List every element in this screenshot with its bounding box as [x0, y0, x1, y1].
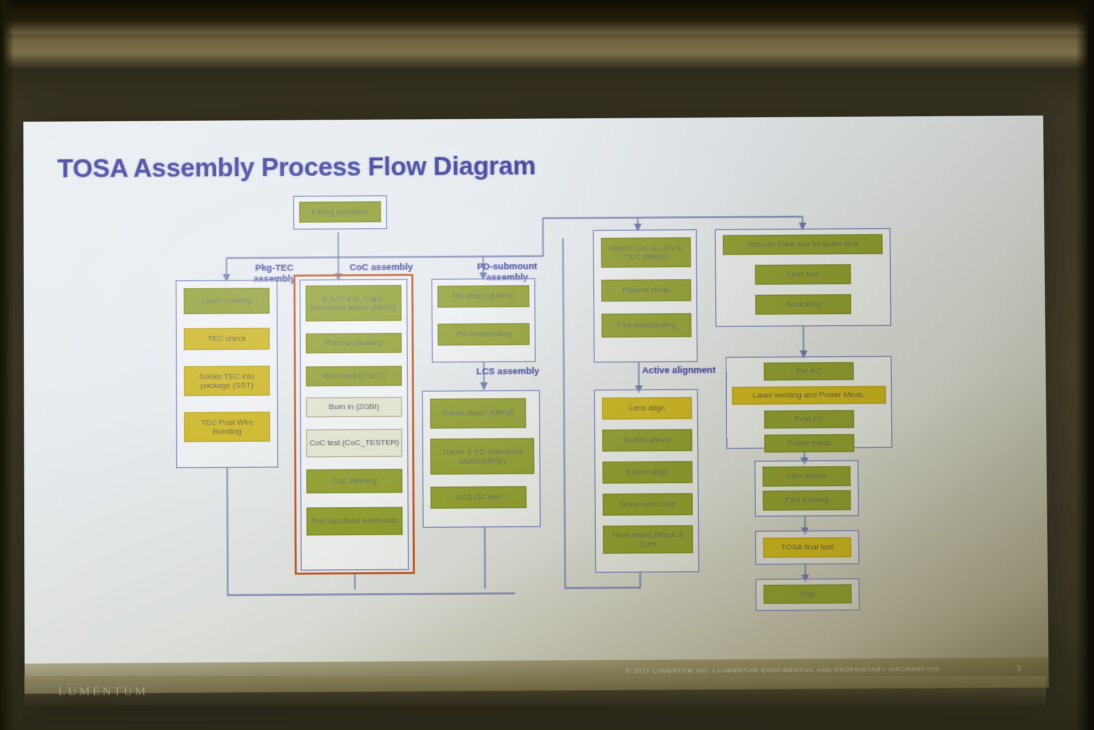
node-plasma-cleaning[interactable]: Plasma cleaning	[306, 333, 402, 354]
node-solder-tec[interactable]: Solder TEC into package (SST)	[184, 366, 270, 397]
node-deep-oven-cure[interactable]: Deep oven cure	[603, 493, 693, 516]
group-label-coc: CoC assembly	[347, 262, 415, 273]
node-iso-bs-attach[interactable]: Iso/BS attach	[602, 429, 692, 452]
node-tec-check[interactable]: TEC check	[184, 328, 270, 351]
node-lcs-dc-test[interactable]: LCS DC test	[430, 486, 526, 509]
node-ship[interactable]: Ship	[763, 584, 851, 604]
node-flex-forming[interactable]: Flex forming	[763, 490, 851, 511]
node-burn-in[interactable]: Burn in (2GBI)	[306, 397, 402, 418]
node-pd-attach[interactable]: PD attach (MRSI)	[437, 285, 529, 308]
node-vacuum-bake-lid-seal[interactable]: Vacuum bake and lid seam seal	[723, 234, 883, 255]
node-heat-shield-attach[interactable]: Heat shield Attach & Cure	[603, 525, 693, 554]
node-laser-marking[interactable]: Laser marking	[184, 288, 270, 314]
lumentum-logo: LUMENTUM	[58, 684, 148, 699]
node-flex-attach[interactable]: Flex attach	[762, 466, 850, 487]
node-pre-fc[interactable]: Pre-FC	[764, 362, 854, 381]
wall-edge-right	[1076, 0, 1094, 730]
wall-edge-left	[0, 0, 14, 730]
node-coc-test[interactable]: CoC test (CoC_TESTER)	[306, 429, 402, 458]
ceiling-strip	[0, 0, 1094, 34]
node-mz-chip-attach[interactable]: (L)MZ chip, Caps, thermistor attach (MRS…	[305, 285, 401, 322]
node-tec-post-wire-bonding[interactable]: TEC Post Wire Bonding	[184, 412, 270, 443]
node-pull-sacrificial-wirebonds[interactable]: Pull Sacrificial wirebonds	[306, 507, 402, 536]
node-pd-wirebonding[interactable]: PD wirebonding	[438, 323, 530, 346]
footer-page-number: 3	[1017, 666, 1021, 673]
node-post-fc[interactable]: Post-FC	[764, 410, 854, 429]
node-coc-binning[interactable]: CoC Binning	[306, 469, 402, 494]
footer-copyright: © 2017 LUMENTUM INC. | LUMENTUM CONFIDEN…	[626, 666, 939, 675]
node-kitting-operation[interactable]: Kitting operation	[299, 201, 381, 222]
logo-band: LUMENTUM	[24, 676, 1046, 706]
group-label-active-alignment: Active alignment	[642, 365, 716, 376]
projected-slide: TOSA Assembly Process Flow Diagram	[23, 116, 1048, 694]
node-wirebond-esec[interactable]: Wirebond (ESEC)	[306, 366, 402, 387]
node-plasma-clean[interactable]: Plasma clean	[601, 279, 691, 302]
node-power-meas[interactable]: Power meas	[764, 434, 854, 453]
process-flow-diagram: Kitting operation Pkg-TEC assembly CoC a…	[23, 116, 1048, 694]
node-annealing[interactable]: Annealing	[755, 294, 851, 315]
group-label-lcs: LCS assembly	[476, 366, 540, 377]
node-attach-coc-lcs-to-tec[interactable]: Attach CoC & LCS to TEC (MRSI)	[601, 237, 691, 267]
node-pkg-wirebonding[interactable]: Pkg wirebonding	[601, 313, 691, 338]
node-leak-test[interactable]: Leak test	[755, 264, 851, 285]
node-laser-welding-power-meas[interactable]: Laser welding and Power Meas.	[732, 386, 886, 405]
node-lens-align[interactable]: Lens align	[602, 397, 692, 420]
node-tosa-final-test[interactable]: TOSA final test	[763, 537, 851, 558]
node-shims-attach[interactable]: Shims attach (MRSI)	[430, 398, 526, 429]
node-etalon-align[interactable]: Etalon align	[602, 461, 692, 484]
node-therm-pd-attach[interactable]: Therm & PD-submount attach(MRSI)	[430, 438, 534, 475]
